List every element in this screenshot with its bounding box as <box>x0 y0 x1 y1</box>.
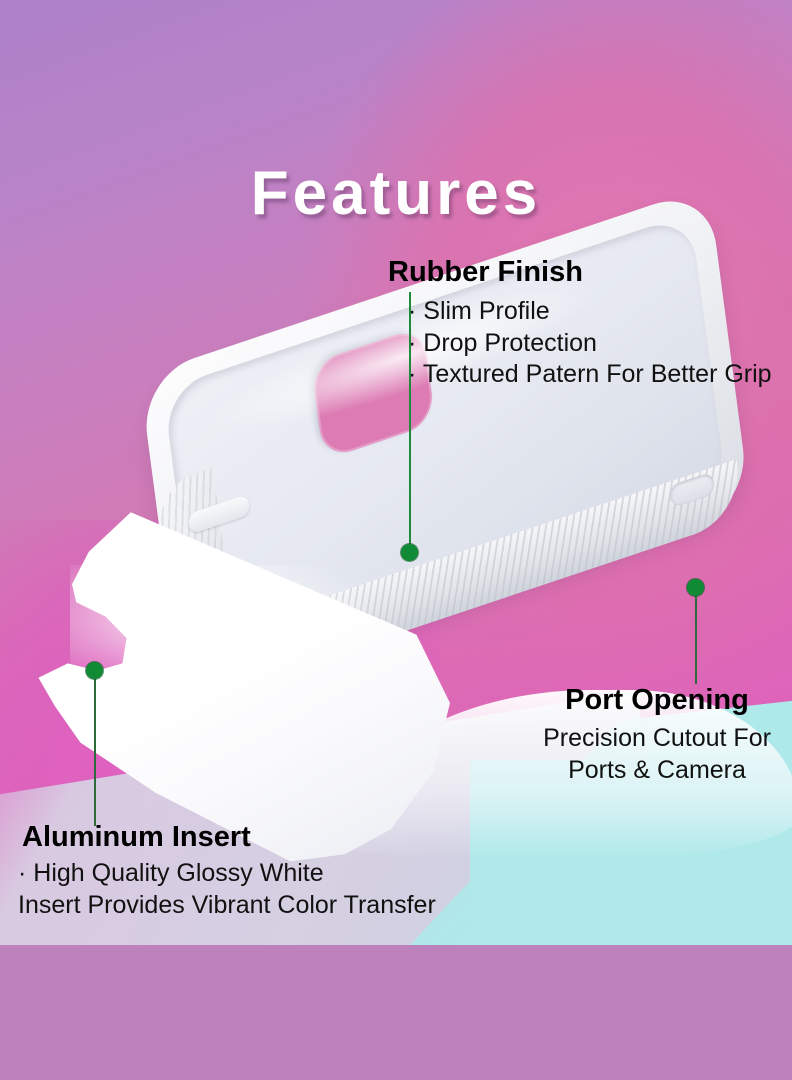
callout-line-ports-camera: Ports & Camera <box>522 755 792 787</box>
callout-line-vibrant-color-transfer: Insert Provides Vibrant Color Transfer <box>18 890 436 922</box>
callout-bullet-textured-pattern: · Textured Patern For Better Grip <box>408 359 772 391</box>
aluminum-insert-illustration <box>30 505 450 865</box>
callout-heading-aluminum-insert: Aluminum Insert <box>22 822 251 853</box>
callout-line-precision-cutout: Precision Cutout For <box>522 723 792 755</box>
callout-bullet-drop-protection: · Drop Protection <box>408 328 772 360</box>
leader-line-port-opening <box>695 592 697 684</box>
leader-line-aluminum-insert <box>94 678 96 826</box>
callout-list-rubber-finish: · Slim Profile · Drop Protection · Textu… <box>408 296 772 391</box>
marker-port-opening <box>687 579 704 596</box>
callout-list-port-opening: Precision Cutout For Ports & Camera <box>522 723 792 786</box>
marker-rubber-finish <box>401 544 418 561</box>
aluminum-insert-plate <box>30 505 450 865</box>
callout-list-aluminum-insert: · High Quality Glossy White Insert Provi… <box>18 858 436 921</box>
callout-bullet-slim-profile: · Slim Profile <box>408 296 772 328</box>
background-bottom-band <box>0 945 792 1080</box>
callout-heading-port-opening: Port Opening <box>532 685 782 716</box>
callout-line-high-quality-glossy-white: · High Quality Glossy White <box>18 858 436 890</box>
marker-aluminum-insert <box>86 662 103 679</box>
features-infographic: Features Rubber Finish · Slim Profile · … <box>0 0 792 1080</box>
callout-heading-rubber-finish: Rubber Finish <box>388 257 583 288</box>
